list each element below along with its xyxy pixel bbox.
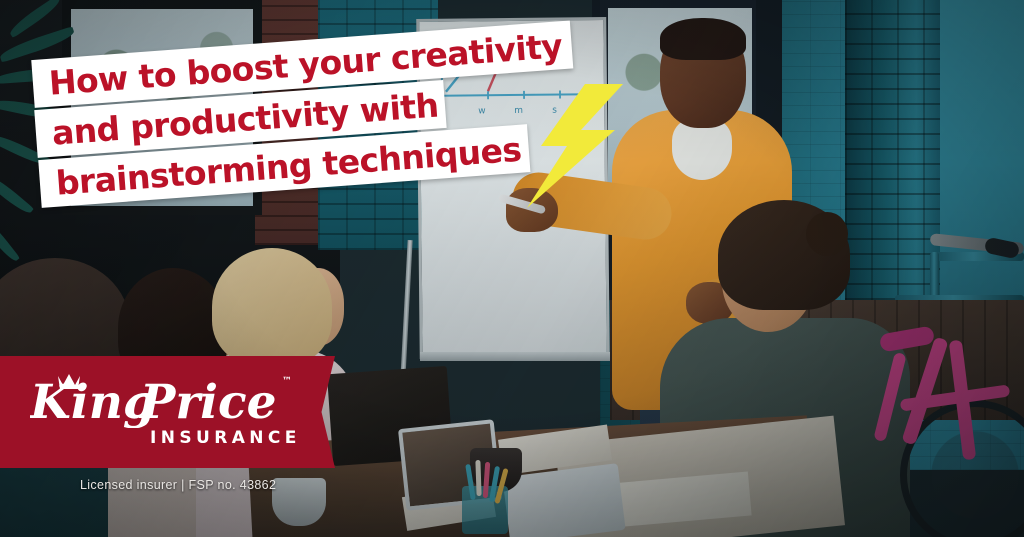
- svg-text:Price: Price: [138, 375, 276, 428]
- whiteboard-marker-tray: [420, 352, 610, 361]
- brand-tagline: INSURANCE: [150, 428, 301, 448]
- headline-line-1: How to boost your creativity: [48, 29, 563, 100]
- colleague-head: [212, 248, 332, 366]
- banner-image: w m s c: [0, 0, 1024, 537]
- svg-text:King: King: [30, 375, 156, 428]
- trademark-symbol: ™: [282, 376, 292, 387]
- whiteboard-leg: [400, 240, 412, 380]
- coffee-cup: [272, 478, 326, 526]
- kingprice-logo: King Price ™ INSURANCE: [30, 366, 290, 458]
- headline: How to boost your creativity and product…: [0, 0, 640, 230]
- pen-holder: [462, 486, 508, 534]
- presenter-hair: [660, 18, 746, 60]
- seated-man-bun: [806, 212, 848, 256]
- licence-disclaimer: Licensed insurer | FSP no. 43862: [80, 478, 276, 492]
- kingprice-wordmark: King Price: [30, 372, 290, 428]
